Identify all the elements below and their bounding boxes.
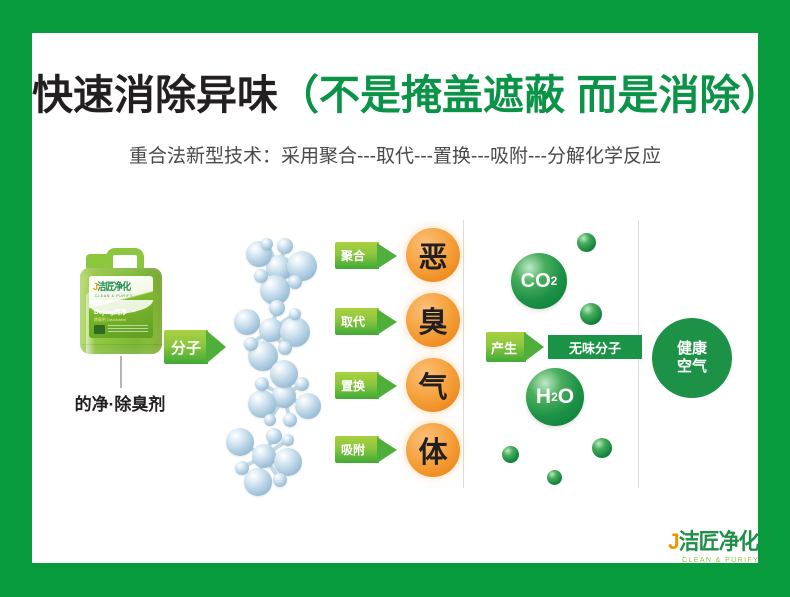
brand-logo-j: J xyxy=(668,529,679,554)
product-caption: 的净·除臭剂 xyxy=(50,390,190,415)
page-title-green: （不是掩盖遮蔽 而是消除） xyxy=(278,72,781,118)
h2o-label-o: O xyxy=(558,385,574,409)
arrow-step-3-head xyxy=(377,373,397,399)
molecule-atom xyxy=(289,308,301,320)
bottle-seam xyxy=(82,344,164,345)
arrow-step-2: 取代 xyxy=(335,308,397,335)
molecule-cluster-3 xyxy=(250,366,322,428)
bottle-label-badge xyxy=(94,325,105,334)
healthy-air-line-1: 健康 xyxy=(677,340,707,358)
molecule-atom xyxy=(244,468,272,496)
molecule-atom xyxy=(266,428,282,444)
page-subtitle: 重合法新型技术：采用聚合---取代---置换---吸附---分解化学反应 xyxy=(32,144,758,170)
molecule-atom xyxy=(274,448,302,476)
product-bottle: J洁匠净化 CLEAN & PURIFY Dejing的净 除臭剂 Deodor… xyxy=(78,248,164,356)
arrow-produce: 产生 xyxy=(486,332,544,362)
brand-tagline: CLEAN & PURIFY xyxy=(682,557,780,564)
molecule-atom xyxy=(226,428,254,456)
molecule-atom xyxy=(277,238,293,254)
arrow-produce-head xyxy=(524,332,544,362)
molecule-atom xyxy=(270,360,298,388)
molecule-atom xyxy=(244,337,258,351)
bottle-label-name: Dejing的净 xyxy=(94,308,150,317)
bottle-body: J洁匠净化 CLEAN & PURIFY Dejing的净 除臭剂 Deodor… xyxy=(80,268,162,354)
co2-subscript: 2 xyxy=(551,274,558,288)
green-dot-5 xyxy=(547,470,562,485)
arrow-produce-label: 产生 xyxy=(491,338,517,357)
arrow-molecule: 分子 xyxy=(164,330,226,364)
molecule-atom xyxy=(283,413,297,427)
arrow-step-1-label: 聚合 xyxy=(341,247,365,264)
molecule-atom xyxy=(282,434,294,446)
caption-leader-line xyxy=(120,356,122,388)
odor-char-2: 臭 xyxy=(406,293,460,347)
arrow-step-4-label: 吸附 xyxy=(341,441,365,458)
green-dot-1 xyxy=(577,233,596,252)
process-diagram: J洁匠净化 CLEAN & PURIFY Dejing的净 除臭剂 Deodor… xyxy=(32,208,758,508)
brand-logo-mark: J洁匠净化 xyxy=(668,528,774,556)
odorless-molecule-tag: 无味分子 xyxy=(548,335,642,359)
molecule-cluster-1 xyxy=(245,238,317,300)
co2-label: CO xyxy=(521,270,551,293)
brand-logo-name: 洁匠净化 xyxy=(679,529,759,554)
arrow-step-4-head xyxy=(377,437,397,463)
odor-char-3: 气 xyxy=(406,358,460,412)
healthy-air-line-2: 空气 xyxy=(677,358,707,376)
bottle-label-desc: 除臭剂 Deodorant xyxy=(94,317,150,323)
molecule-atom xyxy=(255,377,269,391)
arrow-step-4: 吸附 xyxy=(335,436,397,463)
molecule-atom xyxy=(295,393,321,419)
page-title-dark: 快速消除异味 xyxy=(32,72,278,118)
molecule-atom xyxy=(252,444,276,468)
arrow-step-2-head xyxy=(377,309,397,335)
column-divider-1 xyxy=(463,220,464,488)
poster-root: 快速消除异味（不是掩盖遮蔽 而是消除） 重合法新型技术：采用聚合---取代---… xyxy=(0,0,790,597)
molecule-atom xyxy=(273,473,287,487)
odor-char-4: 体 xyxy=(406,423,460,477)
arrow-step-1: 聚合 xyxy=(335,242,397,269)
arrow-molecule-head xyxy=(206,330,226,364)
brand-registered-mark: ® xyxy=(768,530,773,537)
arrow-step-2-label: 取代 xyxy=(341,313,365,330)
bottle-label-textlines xyxy=(108,325,148,334)
healthy-air-circle: 健康 空气 xyxy=(652,318,732,398)
page-title: 快速消除异味（不是掩盖遮蔽 而是消除） xyxy=(32,71,758,119)
molecule-atom xyxy=(234,309,260,335)
molecule-atom xyxy=(295,377,309,391)
h2o-sphere: H2O xyxy=(526,368,584,426)
green-dot-4 xyxy=(592,438,612,458)
bottle-label-logo-text: 洁匠净化 xyxy=(97,282,130,293)
molecule-atom xyxy=(261,238,273,250)
molecule-atom xyxy=(264,414,276,426)
arrow-step-3-label: 置换 xyxy=(341,377,365,394)
green-dot-2 xyxy=(580,303,602,325)
bottle-label-logo: J洁匠净化 xyxy=(93,281,145,294)
molecule-cluster-2 xyxy=(237,302,309,364)
molecule-atom xyxy=(254,269,268,283)
h2o-subscript: 2 xyxy=(551,390,558,404)
arrow-step-3: 置换 xyxy=(335,372,397,399)
h2o-label-h: H xyxy=(536,385,551,409)
green-dot-3 xyxy=(502,446,519,463)
arrow-step-1-head xyxy=(377,243,397,269)
arrow-molecule-label: 分子 xyxy=(171,337,201,358)
odor-char-1: 恶 xyxy=(406,228,460,282)
molecule-atom xyxy=(288,275,302,289)
co2-sphere: CO2 xyxy=(511,253,567,309)
white-content-panel: 快速消除异味（不是掩盖遮蔽 而是消除） 重合法新型技术：采用聚合---取代---… xyxy=(32,33,758,563)
bottle-label: J洁匠净化 CLEAN & PURIFY Dejing的净 除臭剂 Deodor… xyxy=(89,276,153,338)
molecule-cluster-4 xyxy=(232,428,304,490)
brand-logo: J洁匠净化 ® CLEAN & PURIFY xyxy=(668,528,780,572)
molecule-atom xyxy=(269,300,285,316)
molecule-atom xyxy=(278,341,292,355)
molecule-atom xyxy=(235,461,249,475)
